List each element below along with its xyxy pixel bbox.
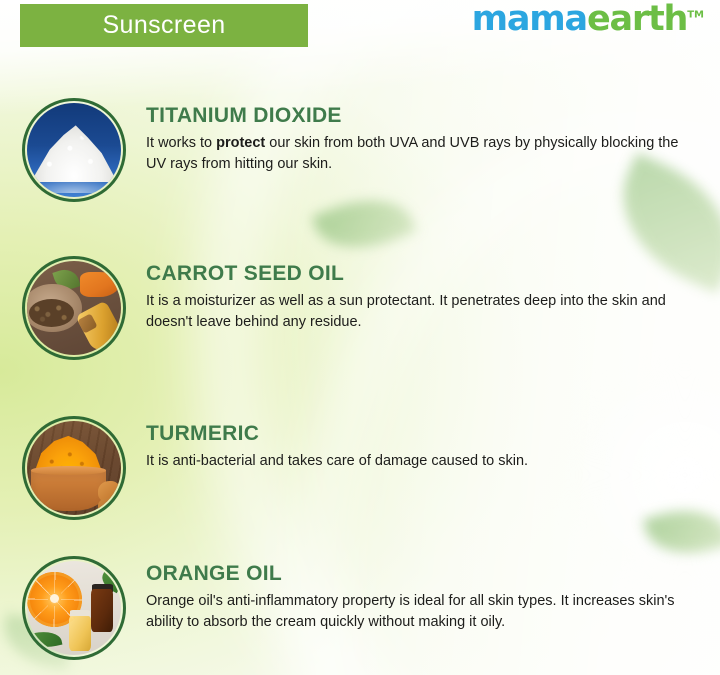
ingredient-description: It works to protect our skin from both U…: [146, 133, 680, 175]
ingredient-title: TURMERIC: [146, 422, 680, 445]
ingredient-description-part: It is a moisturizer as well as a sun pro…: [146, 293, 666, 330]
ingredient-description: It is a moisturizer as well as a sun pro…: [146, 291, 680, 333]
ingredient-description: Orange oil's anti-inflammatory property …: [146, 591, 680, 633]
brand-name-first: mama: [472, 0, 587, 39]
ingredient-description-part: It is anti-bacterial and takes care of d…: [146, 453, 528, 469]
ingredient-title: CARROT SEED OIL: [146, 262, 680, 285]
ingredient-description-part: It works to: [146, 135, 216, 151]
ingredient-row: ORANGE OIL Orange oil's anti-inflammator…: [0, 556, 720, 660]
ingredient-text: ORANGE OIL Orange oil's anti-inflammator…: [126, 556, 720, 633]
page-title: Sunscreen: [102, 11, 225, 40]
page-title-banner: Sunscreen: [20, 4, 308, 47]
ingredient-image-orange-oil: [22, 556, 126, 660]
ingredient-row: TURMERIC It is anti-bacterial and takes …: [0, 416, 720, 520]
ingredient-description-part: Orange oil's anti-inflammatory property …: [146, 593, 675, 630]
header: Sunscreen mamaearthTM: [0, 0, 720, 62]
ingredient-image-turmeric: [22, 416, 126, 520]
ingredient-row: CARROT SEED OIL It is a moisturizer as w…: [0, 256, 720, 360]
ingredient-text: TITANIUM DIOXIDE It works to protect our…: [126, 98, 720, 175]
ingredient-image-carrot-seed-oil: [22, 256, 126, 360]
ingredient-image-titanium-dioxide: [22, 98, 126, 202]
ingredient-description: It is anti-bacterial and takes care of d…: [146, 451, 680, 472]
ingredient-text: CARROT SEED OIL It is a moisturizer as w…: [126, 256, 720, 333]
brand-name-second: earth: [587, 0, 687, 39]
ingredient-title: ORANGE OIL: [146, 562, 680, 585]
ingredient-title: TITANIUM DIOXIDE: [146, 104, 680, 127]
brand-logo: mamaearthTM: [472, 2, 704, 37]
trademark-mark: TM: [687, 9, 704, 20]
ingredient-row: TITANIUM DIOXIDE It works to protect our…: [0, 98, 720, 202]
sunscreen-ingredients-infographic: Sunscreen mamaearthTM TITANIUM DIOXIDE I…: [0, 0, 720, 675]
ingredient-description-emphasis: protect: [216, 135, 265, 151]
ingredient-text: TURMERIC It is anti-bacterial and takes …: [126, 416, 720, 472]
